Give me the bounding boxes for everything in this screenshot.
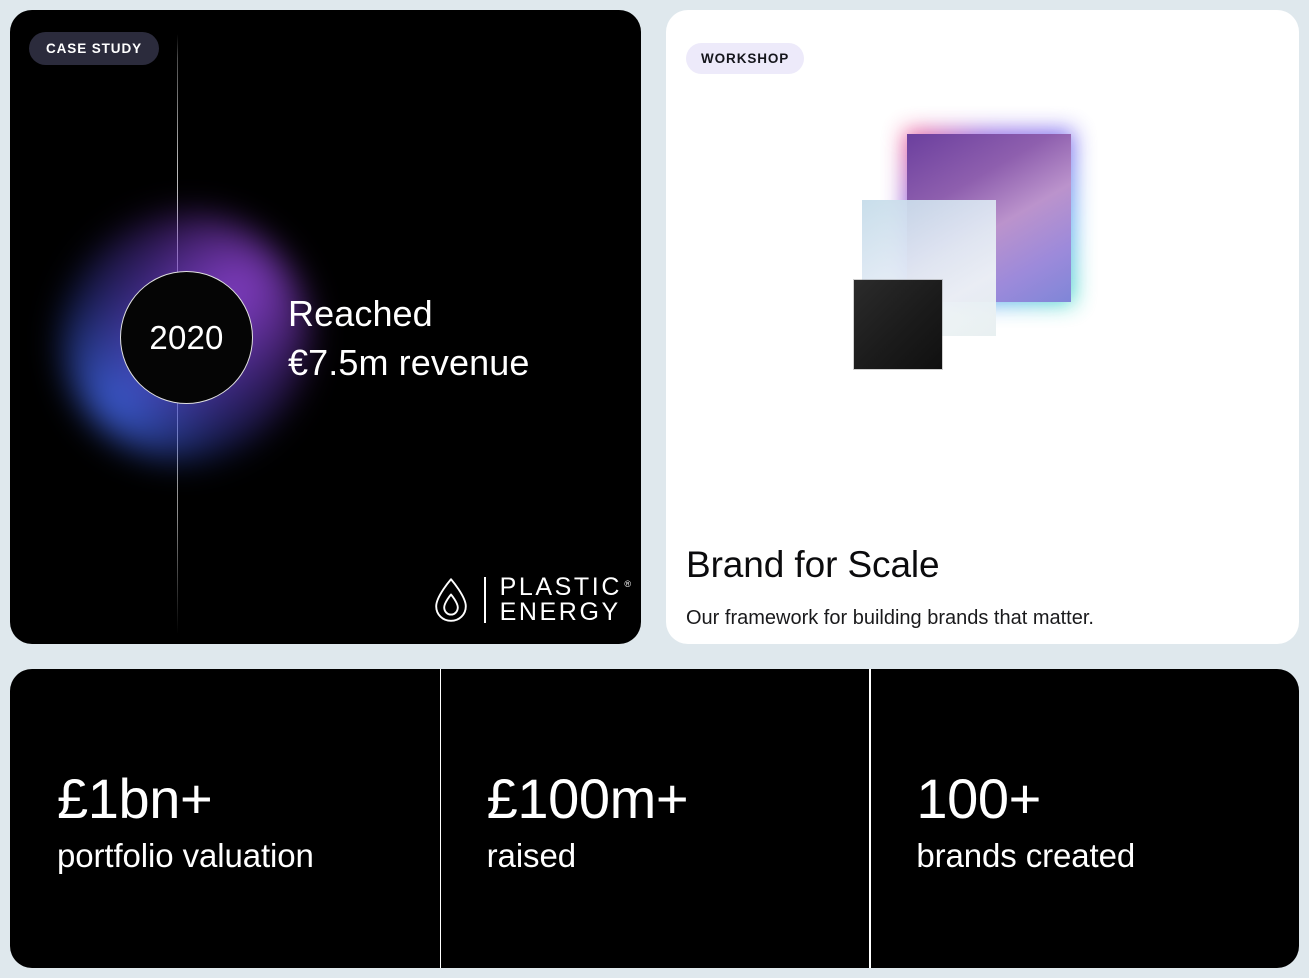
workshop-badge: WORKSHOP	[686, 43, 804, 74]
workshop-title: Brand for Scale	[686, 543, 1279, 587]
workshop-subtitle: Our framework for building brands that m…	[686, 605, 1279, 644]
case-study-headline: Reached €7.5m revenue	[288, 289, 529, 387]
case-study-card[interactable]: CASE STUDY 2020 Reached €7.5m revenue P	[10, 10, 641, 644]
headline-line-1: Reached	[288, 289, 529, 338]
top-card-row: CASE STUDY 2020 Reached €7.5m revenue P	[10, 10, 1299, 644]
year-label: 2020	[149, 319, 223, 357]
stacked-squares-illustration	[854, 118, 1114, 383]
stat-value: £1bn+	[57, 769, 440, 829]
stat-label: raised	[487, 836, 870, 876]
logo-wordmark: PLASTIC® ENERGY	[500, 575, 622, 625]
registered-trademark-icon: ®	[624, 572, 631, 597]
case-study-badge: CASE STUDY	[29, 32, 159, 65]
stat-value: £100m+	[487, 769, 870, 829]
water-droplet-icon	[432, 577, 470, 623]
logo-divider	[484, 577, 485, 623]
stat-label: brands created	[916, 836, 1299, 876]
plastic-energy-logo: PLASTIC® ENERGY	[432, 575, 622, 625]
workshop-card[interactable]: WORKSHOP Brand for Scale Our framework f…	[666, 10, 1299, 644]
workshop-text-block: Brand for Scale Our framework for buildi…	[686, 543, 1279, 644]
stat-card-portfolio-valuation: £1bn+ portfolio valuation	[10, 669, 440, 968]
logo-word-plastic: PLASTIC	[500, 573, 622, 601]
stat-card-brands-created: 100+ brands created	[869, 669, 1299, 968]
headline-line-2: €7.5m revenue	[288, 338, 529, 387]
stat-card-raised: £100m+ raised	[440, 669, 870, 968]
page-root: CASE STUDY 2020 Reached €7.5m revenue P	[0, 0, 1309, 978]
logo-word-line-2: ENERGY	[500, 600, 622, 625]
year-circle: 2020	[120, 271, 253, 404]
dark-square	[854, 280, 942, 369]
stat-label: portfolio valuation	[57, 836, 440, 876]
logo-word-line-1: PLASTIC®	[500, 575, 622, 600]
stat-value: 100+	[916, 769, 1299, 829]
stats-row: £1bn+ portfolio valuation £100m+ raised …	[10, 669, 1299, 968]
